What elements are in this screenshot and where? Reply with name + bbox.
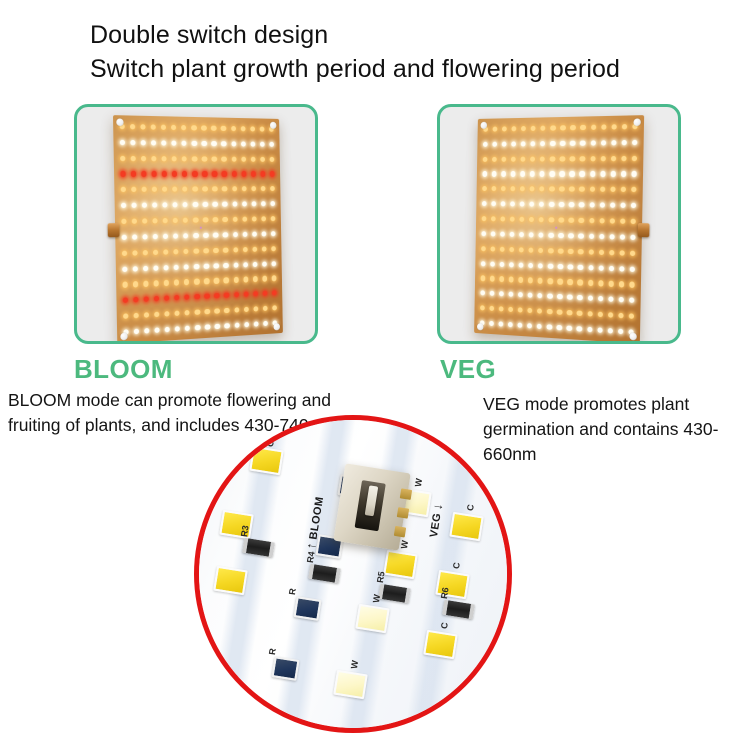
led-dot (529, 217, 534, 222)
led-dot (144, 328, 149, 334)
led-dot (579, 218, 584, 224)
part-label-w: W (349, 660, 360, 670)
led-dot (492, 186, 497, 191)
led-dot (601, 140, 606, 146)
led-dot (483, 142, 488, 147)
led-dot (502, 126, 507, 131)
led-row (481, 230, 635, 241)
mount-screw-icon (629, 333, 636, 341)
led-dot (481, 246, 486, 251)
led-dot (587, 311, 592, 317)
part-label-c: C (465, 504, 476, 512)
led-row (121, 215, 275, 225)
part-label-r: R (267, 648, 278, 656)
led-dot (621, 140, 627, 146)
led-dot (510, 232, 515, 237)
led-dot (500, 261, 505, 266)
led-dot (608, 297, 613, 303)
led-dot (161, 140, 166, 146)
led-dot (172, 171, 177, 176)
switch-window (355, 480, 386, 531)
led-dot (241, 186, 246, 191)
mode-toggle-switch[interactable] (333, 463, 410, 550)
smd-led-white (355, 604, 390, 634)
led-dot (519, 247, 524, 252)
led-dot (194, 294, 199, 300)
led-dot (568, 233, 573, 239)
switch-pin (394, 526, 406, 538)
led-dot (215, 308, 220, 314)
led-dot (482, 216, 487, 221)
led-dot (589, 218, 594, 224)
led-dot (172, 156, 177, 161)
led-dot (144, 312, 149, 318)
led-dot (568, 264, 573, 270)
led-dot (162, 156, 167, 161)
led-dot (202, 187, 207, 192)
led-dot (222, 156, 227, 161)
led-dot (609, 218, 614, 224)
led-row (483, 154, 637, 162)
led-dot (212, 171, 217, 176)
led-dot (629, 282, 635, 288)
led-row (480, 290, 634, 305)
led-dot (213, 232, 218, 237)
led-dot (591, 125, 596, 131)
led-dot (538, 278, 543, 284)
smd-led-white (333, 670, 368, 700)
led-row (122, 275, 276, 289)
led-dot (184, 264, 189, 270)
led-row (482, 215, 636, 225)
led-dot (172, 140, 177, 145)
mount-screw-icon (477, 323, 484, 330)
led-dot (537, 324, 542, 330)
led-dot (621, 171, 627, 177)
led-row (119, 123, 273, 133)
led-dot (132, 250, 137, 256)
led-dot (182, 171, 187, 176)
led-dot (253, 276, 258, 281)
led-row (481, 260, 635, 273)
led-dot (154, 296, 159, 302)
led-dot (557, 294, 562, 300)
led-dot (559, 202, 564, 207)
led-dot (164, 265, 169, 271)
led-dot (252, 261, 257, 266)
led-dot (540, 156, 545, 161)
led-dot (250, 126, 255, 131)
led-dot (587, 296, 592, 302)
pcb-surface-bloom (113, 115, 283, 341)
led-dot (502, 141, 507, 146)
led-dot (490, 261, 495, 266)
led-dot (164, 280, 169, 286)
led-dot (631, 155, 637, 161)
led-dot (541, 126, 546, 131)
led-dot (164, 296, 169, 302)
led-dot (608, 312, 613, 318)
led-dot (272, 290, 277, 295)
led-dot (120, 155, 126, 161)
led-dot (182, 140, 187, 145)
led-dot (134, 329, 139, 335)
led-dot (557, 309, 562, 315)
led-dot (231, 126, 236, 131)
led-dot (233, 262, 238, 267)
led-dot (621, 155, 627, 161)
led-dot (152, 187, 157, 192)
led-dot (527, 323, 532, 329)
led-dot (550, 156, 555, 161)
led-dot (173, 218, 178, 224)
led-row (121, 200, 275, 209)
led-dot (192, 156, 197, 161)
led-dot (182, 156, 187, 161)
mode-description-veg: VEG mode promotes plant germination and … (483, 392, 745, 467)
led-dot (547, 324, 552, 330)
led-dot (191, 125, 196, 130)
led-dot (272, 305, 277, 310)
led-dot (221, 141, 226, 146)
led-dot (252, 231, 257, 236)
led-dot (130, 140, 136, 146)
led-dot (618, 328, 623, 334)
led-dot (519, 232, 524, 237)
led-dot (162, 187, 167, 192)
led-dot (225, 323, 230, 329)
led-dot (490, 276, 495, 281)
led-dot (232, 202, 237, 207)
smd-led-red-diode (272, 656, 300, 681)
led-dot (491, 231, 496, 236)
headline-block: Double switch design Switch plant growth… (90, 18, 710, 86)
led-dot (501, 201, 506, 206)
led-dot (631, 171, 637, 177)
led-dot (599, 218, 604, 224)
led-dot (598, 249, 603, 255)
led-dot (244, 307, 249, 313)
led-dot (143, 265, 148, 271)
part-label-c: C (439, 622, 450, 630)
led-dot (607, 328, 612, 334)
led-dot (221, 126, 226, 131)
led-dot (618, 313, 623, 319)
led-dot (482, 186, 487, 191)
led-dot (589, 202, 594, 208)
led-dot (250, 156, 255, 161)
led-row (483, 123, 637, 133)
led-dot (120, 171, 126, 177)
led-dot (500, 231, 505, 236)
led-dot (203, 217, 208, 222)
led-dot (599, 203, 604, 209)
led-dot (271, 246, 276, 251)
led-dot (600, 187, 605, 192)
led-dot (482, 171, 487, 176)
led-dot (194, 263, 199, 269)
led-dot (548, 278, 553, 284)
led-dot (482, 201, 487, 206)
led-dot (152, 203, 157, 209)
led-dot (618, 297, 623, 303)
led-dot (134, 313, 139, 319)
led-dot (142, 234, 147, 240)
led-dot (512, 126, 517, 131)
led-dot (151, 156, 156, 161)
led-dot (549, 217, 554, 222)
led-dot (253, 291, 258, 296)
led-dot (588, 249, 593, 255)
led-dot (122, 250, 128, 256)
mode-title-bloom: BLOOM (74, 354, 173, 385)
part-label-r6: R6 (439, 587, 451, 600)
led-dot (260, 171, 265, 176)
led-dot (260, 141, 265, 146)
led-dot (270, 186, 275, 191)
led-dot (569, 202, 574, 207)
led-dot (509, 292, 514, 298)
led-dot (260, 156, 265, 161)
led-dot (540, 141, 545, 146)
led-dot (174, 280, 179, 286)
led-dot (222, 202, 227, 207)
led-dot (153, 249, 158, 255)
led-dot (165, 327, 170, 333)
led-dot (270, 171, 275, 176)
led-dot (213, 202, 218, 207)
part-label-w: W (371, 594, 382, 604)
led-dot (261, 201, 266, 206)
led-dot (121, 219, 127, 225)
led-dot (569, 218, 574, 223)
led-dot (141, 156, 146, 162)
led-dot (251, 186, 256, 191)
led-dot (510, 202, 515, 207)
led-dot (261, 216, 266, 221)
led-dot (520, 217, 525, 222)
led-dot (253, 321, 258, 327)
led-dot (232, 186, 237, 191)
led-dot (151, 140, 156, 146)
led-dot (222, 171, 227, 176)
led-dot (214, 263, 219, 269)
led-dot (609, 234, 614, 240)
led-dot (598, 296, 603, 302)
led-dot (550, 141, 555, 146)
led-dot (540, 171, 545, 176)
led-dot (630, 219, 636, 225)
led-dot (501, 171, 506, 176)
led-dot (242, 202, 247, 207)
led-dot (252, 246, 257, 251)
led-dot (611, 140, 616, 146)
led-dot (578, 249, 583, 255)
led-dot (133, 297, 138, 303)
led-dot (172, 187, 177, 192)
led-dot (215, 324, 220, 330)
led-dot (547, 294, 552, 300)
led-dot (223, 262, 228, 267)
led-dot (122, 282, 128, 288)
led-dot (224, 278, 229, 284)
led-dot (163, 249, 168, 255)
led-dot (599, 234, 604, 240)
led-dot (270, 216, 275, 221)
led-dot (231, 141, 236, 146)
led-dot (619, 234, 624, 240)
led-dot (528, 293, 533, 299)
led-dot (509, 262, 514, 267)
led-dot (518, 307, 523, 313)
led-dot (244, 322, 249, 328)
led-dot (579, 187, 584, 192)
led-dot (223, 217, 228, 222)
led-dot (531, 141, 536, 146)
led-dot (241, 156, 246, 161)
led-dot (192, 171, 197, 176)
led-dot (587, 327, 592, 333)
led-row (481, 245, 635, 257)
led-dot (620, 187, 626, 193)
led-dot (234, 292, 239, 298)
led-dot (528, 262, 533, 267)
led-dot (500, 246, 505, 251)
led-dot (222, 187, 227, 192)
led-dot (261, 231, 266, 236)
led-dot (570, 125, 575, 130)
panel-card-bloom (74, 104, 318, 344)
led-dot (577, 295, 582, 301)
led-dot (243, 277, 248, 282)
led-dot (491, 216, 496, 221)
led-dot (620, 218, 626, 224)
led-dot (520, 186, 525, 191)
led-dot (589, 187, 594, 192)
led-dot (132, 234, 137, 240)
led-dot (154, 280, 159, 286)
smd-led-yellow (449, 512, 484, 542)
led-dot (510, 217, 515, 222)
led-dot (528, 278, 533, 284)
led-dot (630, 250, 636, 256)
led-row (120, 154, 274, 162)
led-dot (183, 202, 188, 207)
detail-pcb-closeup: C R W R3 R4 R5 R6 W W C C C R R W (199, 420, 507, 728)
led-dot (530, 156, 535, 161)
led-dot (577, 311, 582, 317)
smd-led-yellow (383, 550, 418, 580)
led-dot (163, 218, 168, 224)
led-dot (242, 247, 247, 252)
led-row (482, 200, 636, 209)
led-dot (231, 171, 236, 176)
led-dot (192, 187, 197, 192)
part-label-r: R (287, 588, 298, 596)
led-dot (509, 277, 514, 282)
led-dot (142, 203, 147, 209)
led-dot (120, 140, 126, 146)
led-dot (537, 308, 542, 314)
headline-line-2: Switch plant growth period and flowering… (90, 52, 710, 86)
led-dot (131, 155, 137, 161)
led-dot (610, 171, 615, 176)
switch-lever[interactable] (365, 485, 379, 516)
led-dot (262, 261, 267, 266)
led-dot (262, 291, 267, 296)
led-dot (151, 124, 156, 130)
led-dot (269, 142, 274, 147)
led-dot (133, 281, 138, 287)
led-dot (558, 279, 563, 285)
led-dot (519, 262, 524, 267)
led-dot (499, 291, 504, 296)
smd-led-red-diode (294, 596, 322, 621)
led-dot (570, 156, 575, 161)
arrow-down-icon: ↓ (429, 502, 445, 511)
led-dot (499, 306, 504, 312)
led-dot (122, 266, 128, 272)
led-dot (511, 156, 516, 161)
led-row (480, 304, 634, 320)
led-dot (548, 233, 553, 238)
led-dot (271, 261, 276, 266)
led-dot (213, 248, 218, 253)
led-dot (580, 171, 585, 176)
led-dot (560, 171, 565, 176)
led-dot (202, 141, 207, 146)
led-dot (560, 125, 565, 130)
led-dot (205, 324, 210, 330)
led-dot (193, 233, 198, 238)
led-row (120, 139, 274, 148)
part-label-w: W (413, 478, 424, 488)
led-dot (243, 262, 248, 267)
part-label-c: C (265, 440, 276, 448)
led-dot (253, 306, 258, 312)
led-dot (260, 186, 265, 191)
led-dot (539, 202, 544, 207)
led-dot (205, 309, 210, 315)
led-dot (269, 156, 274, 161)
led-dot (259, 126, 264, 131)
led-dot (489, 321, 494, 327)
led-dot (203, 202, 208, 207)
led-dot (540, 187, 545, 192)
led-dot (183, 233, 188, 239)
switch-pin (400, 488, 412, 500)
led-dot (153, 234, 158, 240)
led-dot (492, 156, 497, 161)
led-dot (174, 295, 179, 301)
led-dot (622, 124, 628, 130)
led-dot (202, 171, 207, 176)
led-dot (579, 202, 584, 207)
led-dot (481, 276, 486, 281)
led-dot (481, 231, 486, 236)
led-row (123, 319, 277, 336)
led-dot (173, 233, 178, 239)
led-row (121, 185, 275, 193)
led-dot (600, 156, 605, 161)
led-dot (242, 217, 247, 222)
led-row (480, 319, 634, 336)
led-dot (234, 322, 239, 328)
led-dot (153, 265, 158, 271)
led-dot (202, 156, 207, 161)
led-dot (538, 263, 543, 269)
led-row (122, 230, 276, 241)
